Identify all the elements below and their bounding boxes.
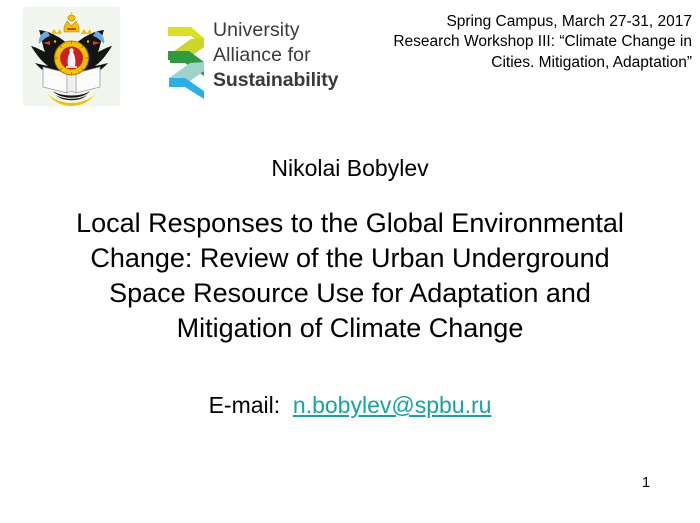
coat-of-arms-icon (23, 7, 120, 106)
uas-zigzag-mark-icon (163, 21, 209, 99)
uas-line-1: University (213, 18, 353, 43)
email-line: E-mail: n.bobylev@spbu.ru (0, 391, 700, 420)
uas-wordmark: University Alliance for Sustainability (213, 18, 353, 93)
uas-line-2: Alliance for (213, 43, 353, 68)
uas-line-3: Sustainability (213, 68, 353, 93)
university-alliance-sustainability-logo: University Alliance for Sustainability (163, 18, 353, 104)
page-number: 1 (626, 474, 666, 491)
event-header-line-2: Research Workshop III: “Climate Change i… (356, 32, 692, 73)
event-header-line-1: Spring Campus, March 27-31, 2017 (356, 12, 692, 32)
title-line-3: Space Resource Use for Adaptation and (30, 276, 670, 311)
title-line-2: Change: Review of the Urban Underground (30, 241, 670, 276)
presentation-slide: University Alliance for Sustainability S… (0, 0, 700, 523)
event-header: Spring Campus, March 27-31, 2017 Researc… (356, 12, 692, 73)
title-line-4: Mitigation of Climate Change (30, 311, 670, 346)
spbu-coat-of-arms-panel (23, 7, 120, 106)
email-label: E-mail: (209, 392, 281, 418)
slide-title: Local Responses to the Global Environmen… (30, 206, 670, 346)
author-name: Nikolai Bobylev (0, 155, 700, 183)
title-line-1: Local Responses to the Global Environmen… (30, 206, 670, 241)
email-link[interactable]: n.bobylev@spbu.ru (293, 392, 492, 418)
